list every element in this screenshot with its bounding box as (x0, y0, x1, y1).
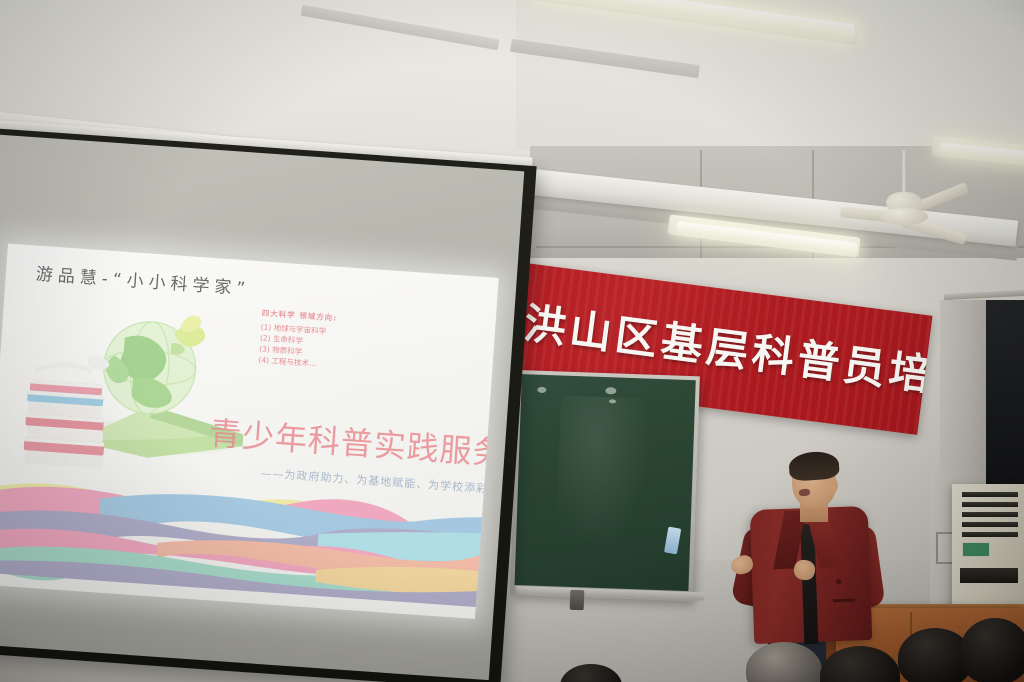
screen-fabric: 游品慧-“小小科学家” 四大科学 领域方向: (1) 地球与宇宙科学 (2) 生… (0, 134, 524, 680)
speaker-ear (828, 478, 838, 493)
fan-cap (880, 208, 928, 225)
ac-slat-1 (962, 492, 1018, 497)
jacket-pocket (833, 598, 855, 602)
projected-slide: 游品慧-“小小科学家” 四大科学 领域方向: (1) 地球与宇宙科学 (2) 生… (0, 244, 499, 619)
jacket-button (836, 579, 841, 584)
chalk-mark-3 (609, 399, 616, 403)
chalk-mark-1 (537, 387, 546, 393)
classroom-scene: 洪山区基层科普员培训班 (0, 0, 1024, 682)
chalk-mark-2 (605, 387, 616, 394)
ac-slat-5 (962, 532, 1018, 537)
chalkboard (510, 370, 700, 601)
ac-slat-3 (962, 512, 1018, 517)
chalkboard-clip (570, 590, 585, 610)
ac-label-sticker (962, 542, 990, 557)
chalkboard-sheen (556, 396, 653, 549)
audience-head-5 (960, 618, 1024, 682)
chalkboard-surface (514, 374, 695, 591)
fan-rod (902, 150, 906, 198)
ac-slat-2 (962, 502, 1018, 507)
projection-screen: 游品慧-“小小科学家” 四大科学 领域方向: (1) 地球与宇宙科学 (2) 生… (0, 128, 537, 682)
dark-curtain (986, 300, 1024, 498)
ac-display-vent (960, 568, 1018, 583)
slide-bullet-list: 四大科学 领域方向: (1) 地球与宇宙科学 (2) 生命科学 (3) 物质科学… (258, 307, 382, 373)
ac-slat-4 (962, 522, 1018, 527)
chalk-eraser-icon (664, 527, 681, 555)
